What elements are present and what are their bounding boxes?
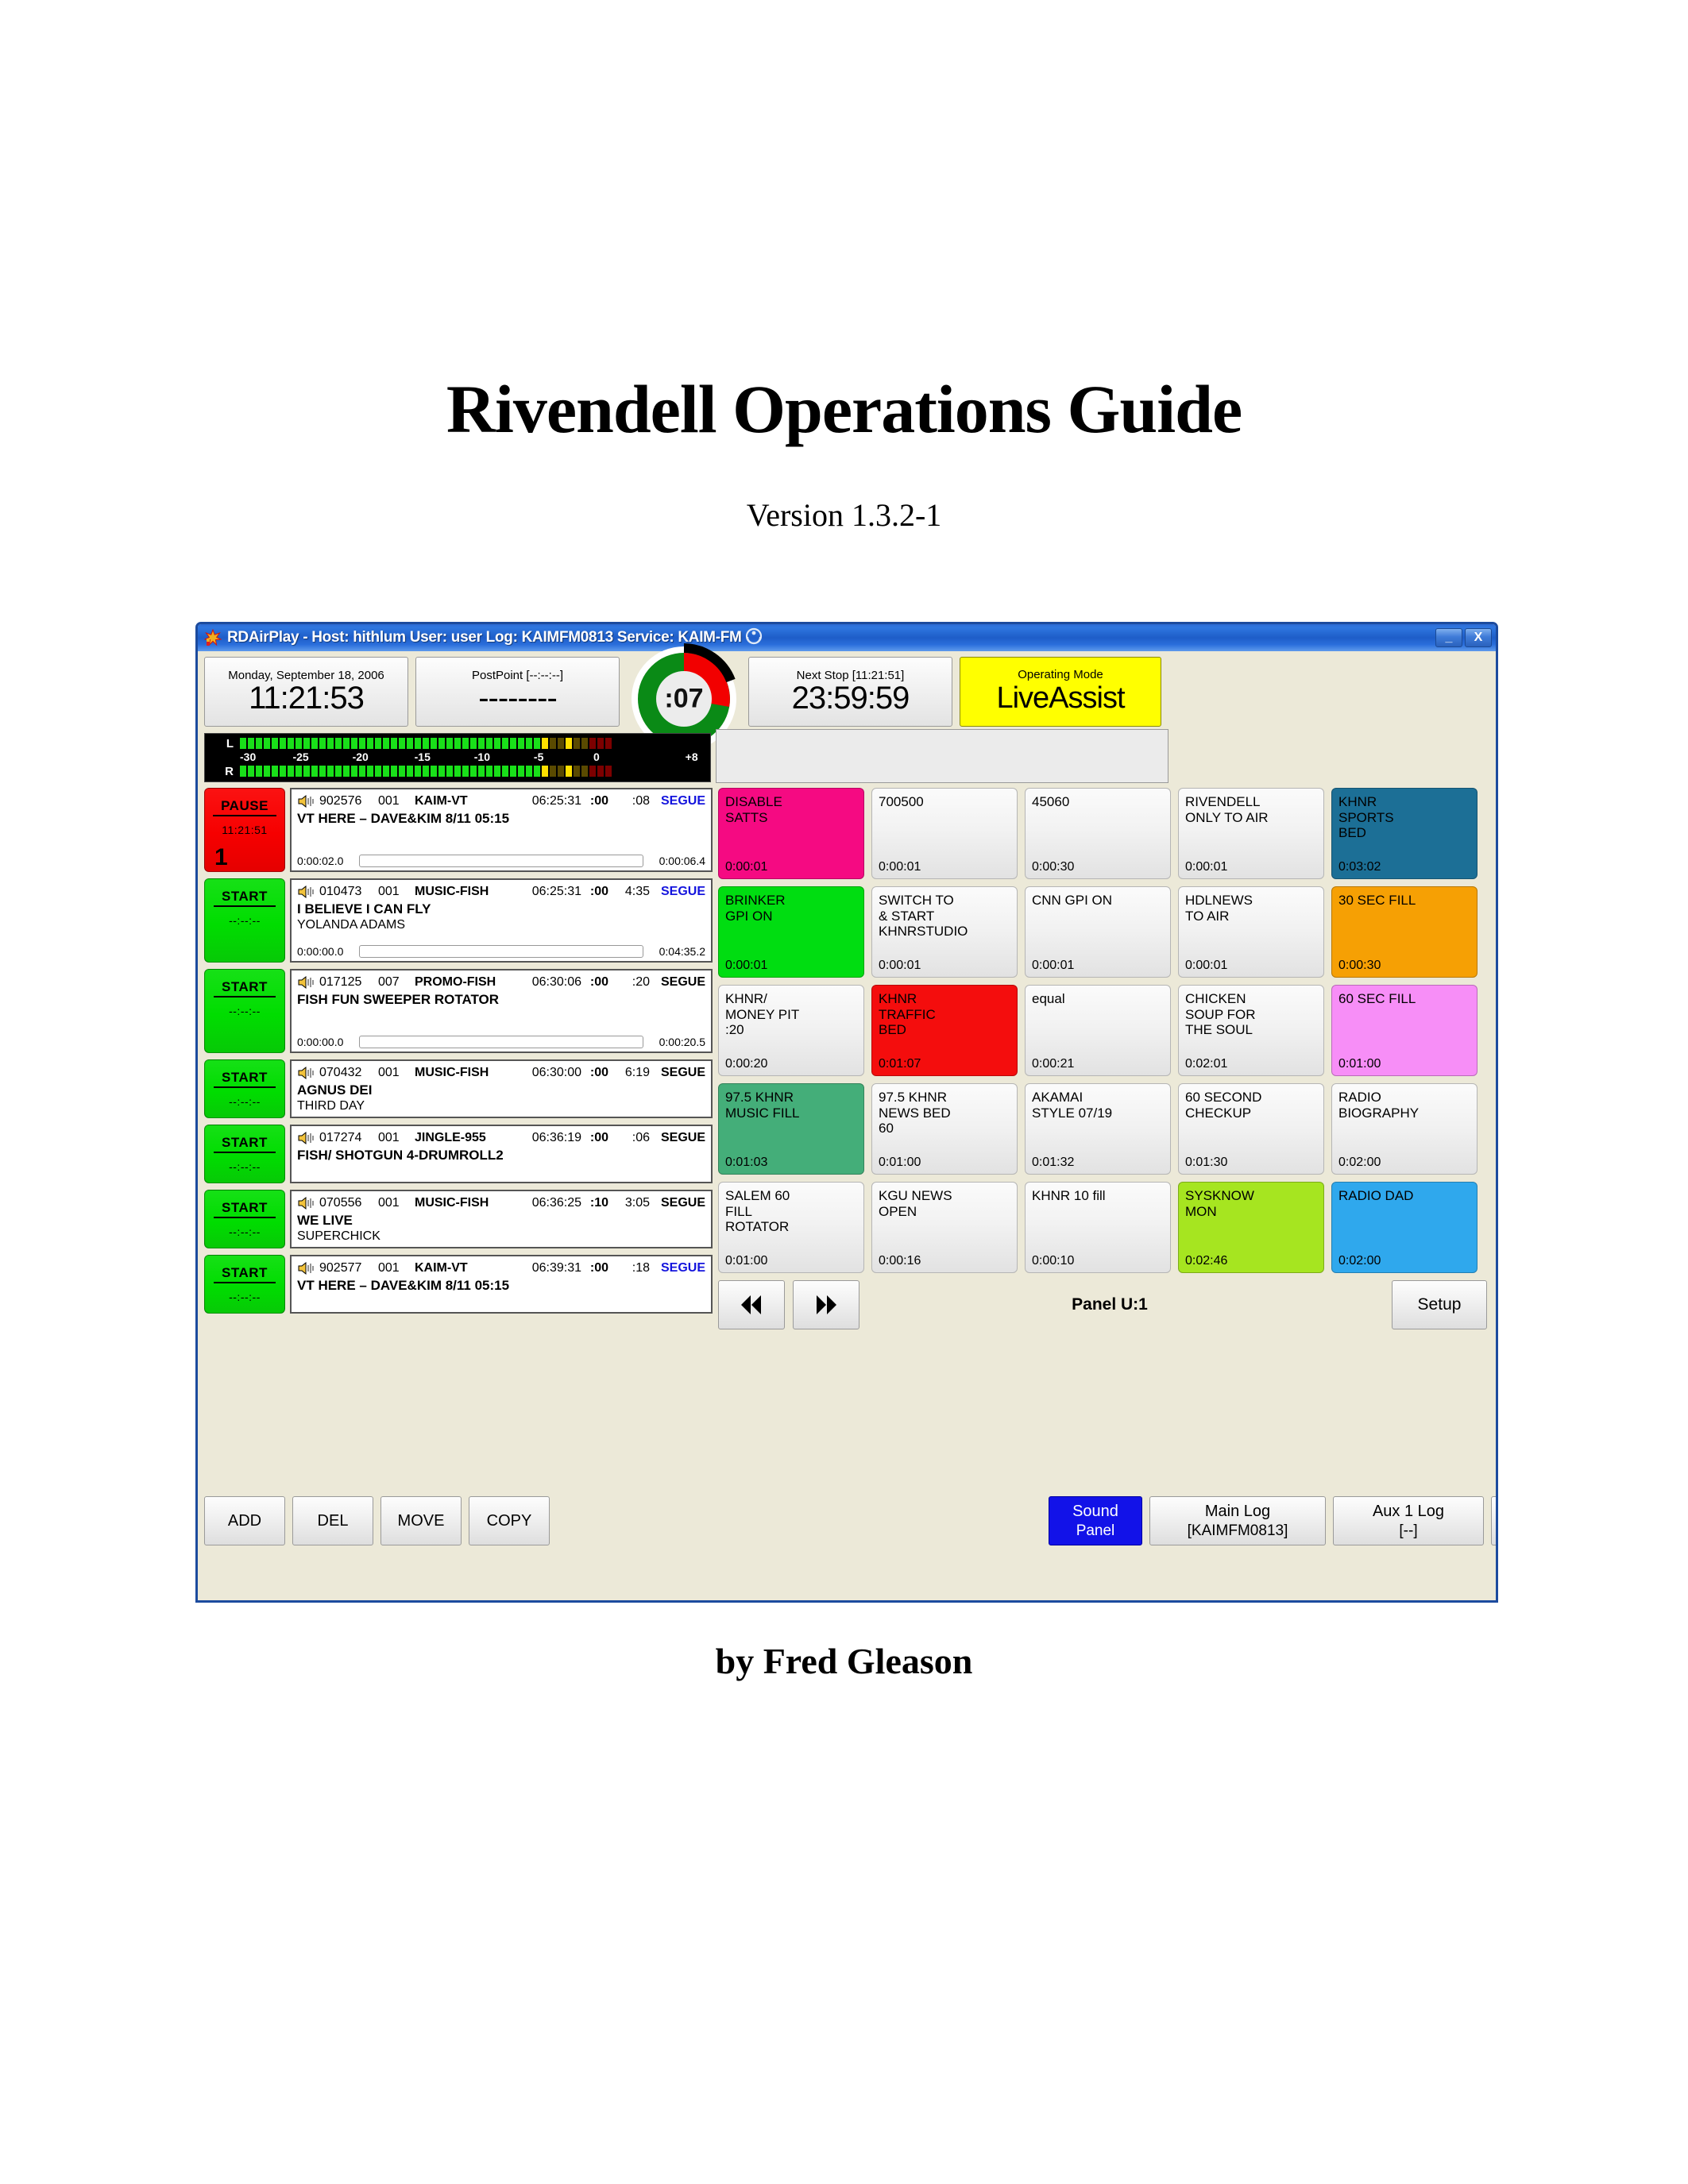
log-air-time: 06:36:25 [518,1196,581,1210]
sound-panel-button[interactable]: SWITCH TO& STARTKHNRSTUDIO0:00:01 [871,886,1018,978]
log-card[interactable]: 902576 001 KAIM-VT 06:25:31 :00 :08 SEGU… [290,788,713,872]
elapsed-time: 0:00:02.0 [297,855,354,867]
sound-panel-button[interactable]: KGU NEWSOPEN0:00:16 [871,1182,1018,1273]
sound-panel-text: THE SOUL [1185,1022,1317,1038]
sound-panel-button[interactable]: 30 SEC FILL0:00:30 [1331,886,1477,978]
sound-panel-button[interactable]: 60 SECONDCHECKUP0:01:30 [1178,1083,1324,1175]
meter-segment [288,738,294,749]
rewind-icon-button[interactable] [718,1280,785,1329]
meter-segment [383,766,389,777]
meter-segment [566,766,572,777]
next-stop-widget: Next Stop [11:21:51] 23:59:59 [748,657,952,727]
meter-segment [510,766,516,777]
meter-segment [319,766,326,777]
log-selector-sub: Panel [1076,1522,1115,1541]
meter-segment [542,738,548,749]
log-air-time: 06:36:19 [518,1131,581,1145]
log-segue: SEGUE [650,1066,705,1080]
sound-panel-text: KHNR/ [725,991,857,1007]
sound-panel-button[interactable]: BRINKERGPI ON0:00:01 [718,886,864,978]
fast-forward-icon-button[interactable] [793,1280,859,1329]
meter-segment [295,738,302,749]
progress-bar [359,855,643,867]
sound-panel-button[interactable]: SALEM 60FILLROTATOR0:01:00 [718,1182,864,1273]
log-air-time: 06:39:31 [518,1261,581,1275]
meter-segment [327,766,334,777]
meter-segment [581,738,588,749]
log-title: WE LIVE [297,1213,705,1229]
meter-segment [486,766,492,777]
meter-scale-tick: -25 [292,751,308,763]
meter-segment [589,766,596,777]
log-meta-line: 017274 001 JINGLE-955 06:36:19 :00 :06 S… [297,1129,705,1147]
meter-right-channel: R [205,765,710,778]
log-row[interactable]: START --:--:-- 017125 007 PROMO-FISH 06:… [204,969,713,1053]
log-start-time: --:--:-- [229,1291,261,1303]
log-row-number: 1 [205,844,228,871]
meter-segment [415,738,421,749]
edit-button-copy[interactable]: COPY [469,1496,550,1545]
edit-button-add[interactable]: ADD [204,1496,285,1545]
sound-panel-button[interactable]: KHNR/MONEY PIT:200:00:20 [718,985,864,1076]
sound-panel-text: MUSIC FILL [725,1106,857,1121]
sound-panel-text: SOUP FOR [1185,1007,1317,1023]
log-meta-line: 017125 007 PROMO-FISH 06:30:06 :00 :20 S… [297,974,705,991]
log-transition: :00 [581,1066,608,1080]
log-length: 6:19 [608,1066,650,1080]
sound-panel-length: 0:01:03 [725,1156,767,1170]
countdown-value: :07 [664,684,703,715]
meter-scale-tick: +8 [686,751,698,763]
log-length: 4:35 [608,885,650,899]
postpoint-value: -------- [478,682,557,714]
log-cart-number: 010473 [319,885,378,899]
log-cart-number: 902577 [319,1261,378,1275]
log-meta-line: 070432 001 MUSIC-FISH 06:30:00 :00 6:19 … [297,1064,705,1082]
sound-panel-text: TO AIR [1185,909,1317,924]
log-start-label: START [214,1135,276,1153]
log-start-button[interactable]: START --:--:-- [204,1125,285,1183]
log-cut-number: 001 [378,1131,415,1145]
sound-panel-text: SPORTS [1338,810,1470,826]
log-title: I BELIEVE I CAN FLY [297,901,705,917]
meter-segment [534,738,540,749]
document-page: Rivendell Operations Guide Version 1.3.2… [0,0,1688,2184]
meter-left-segments [240,738,612,749]
speaker-icon [297,1196,315,1210]
log-start-button[interactable]: START --:--:-- [204,1190,285,1248]
log-card[interactable]: 017274 001 JINGLE-955 06:36:19 :00 :06 S… [290,1125,713,1183]
remaining-time: 0:00:20.5 [648,1036,705,1048]
sound-panel-length: 0:00:01 [879,959,921,973]
log-start-button[interactable]: START --:--:-- [204,1059,285,1118]
log-group: KAIM-VT [415,794,518,808]
meter-scale-tick: -30 [240,751,256,763]
message-textbox[interactable] [716,729,1168,783]
log-cart-number: 017125 [319,975,378,990]
sound-panel-nav: Panel U:1 Setup [718,1280,1487,1329]
sound-panel-text: BRINKER [725,893,857,909]
meter-segment [494,766,500,777]
meter-segment [423,738,429,749]
sound-panel-length: 0:00:30 [1338,959,1381,973]
sound-panel-button[interactable]: KHNRTRAFFICBED0:01:07 [871,985,1018,1076]
log-air-time: 06:25:31 [518,794,581,808]
log-row[interactable]: START --:--:-- 902577 001 KAIM-VT 06:39:… [204,1255,713,1314]
sound-panel-button[interactable]: AKAMAISTYLE 07/190:01:32 [1025,1083,1171,1175]
sound-panel: DISABLESATTS0:00:017005000:00:01450600:0… [718,788,1487,1329]
author-line: by Fred Gleason [0,1640,1688,1682]
minimize-button[interactable]: _ [1435,628,1462,647]
meter-segment [486,738,492,749]
sound-panel-button[interactable]: KHNR 10 fill0:00:10 [1025,1182,1171,1273]
meter-scale-tick: -20 [353,751,369,763]
meter-segment [542,766,548,777]
service-icon [745,627,763,649]
log-group: MUSIC-FISH [415,1066,518,1080]
sound-panel-row: DISABLESATTS0:00:017005000:00:01450600:0… [718,788,1487,879]
speaker-icon [297,1066,315,1080]
meter-segment [311,766,318,777]
log-row[interactable]: START --:--:-- 070432 001 MUSIC-FISH 06:… [204,1059,713,1118]
sound-panel-button[interactable]: DISABLESATTS0:00:01 [718,788,864,879]
wall-clock-widget: Monday, September 18, 2006 11:21:53 [204,657,408,727]
log-selector-main-log[interactable]: Main Log[KAIMFM0813] [1149,1496,1326,1545]
log-start-time: --:--:-- [229,1160,261,1173]
meter-segment [319,738,326,749]
meter-scale: -30-25-20-15-10-50+8 [240,751,699,764]
meter-segment [288,766,294,777]
log-air-time: 06:30:00 [518,1066,581,1080]
sound-panel-text: KGU NEWS [879,1188,1010,1204]
sound-panel-text: BIOGRAPHY [1338,1106,1470,1121]
sound-panel-length: 0:01:30 [1185,1156,1227,1170]
sound-panel-length: 0:02:01 [1185,1057,1227,1071]
log-start-button[interactable]: START --:--:-- [204,969,285,1053]
log-title: FISH FUN SWEEPER ROTATOR [297,992,705,1008]
sound-panel-text: equal [1032,991,1164,1007]
meter-segment [574,766,580,777]
meter-segment [550,766,556,777]
meter-segment [502,738,508,749]
sound-panel-button[interactable]: RIVENDELLONLY TO AIR0:00:01 [1178,788,1324,879]
sound-panel-button[interactable]: 450600:00:30 [1025,788,1171,879]
sound-panel-text: ONLY TO AIR [1185,810,1317,826]
meter-segment [462,766,469,777]
meter-segment [462,738,469,749]
log-selector-aux-2-log[interactable]: Aux 2 Log[--] [1491,1496,1498,1545]
speaker-icon [297,885,315,899]
log-edit-buttons: ADDDELMOVECOPY [204,1496,550,1545]
sound-panel-text: HDLNEWS [1185,893,1317,909]
log-title: VT HERE – DAVE&KIM 8/11 05:15 [297,811,705,827]
log-card[interactable]: 070556 001 MUSIC-FISH 06:36:25 :10 3:05 … [290,1190,713,1248]
sound-panel-button[interactable]: SYSKNOWMON0:02:46 [1178,1182,1324,1273]
log-transition: :00 [581,885,608,899]
window-titlebar[interactable]: RDAirPlay - Host: hithlum User: user Log… [198,624,1496,651]
log-progress: 0:00:00.0 0:04:35.2 [297,945,705,958]
log-air-time: 06:25:31 [518,885,581,899]
log-group: PROMO-FISH [415,975,518,990]
meter-scale-tick: 0 [593,751,600,763]
meter-segment [295,766,302,777]
sound-panel-button[interactable]: RADIOBIOGRAPHY0:02:00 [1331,1083,1477,1175]
sound-panel-length: 0:00:01 [725,860,767,874]
meter-segment [431,738,437,749]
log-start-button[interactable]: START --:--:-- [204,878,285,963]
log-group: KAIM-VT [415,1261,518,1275]
log-transition: :10 [581,1196,608,1210]
log-row[interactable]: START --:--:-- 017274 001 JINGLE-955 06:… [204,1125,713,1183]
meter-segment [431,766,437,777]
meter-segment [280,766,286,777]
meter-segment [375,766,381,777]
sound-panel-row: BRINKERGPI ON0:00:01SWITCH TO& STARTKHNR… [718,886,1487,978]
sound-panel-button[interactable]: KHNRSPORTSBED0:03:02 [1331,788,1477,879]
meter-segment [605,766,612,777]
sound-panel-row: KHNR/MONEY PIT:200:00:20KHNRTRAFFICBED0:… [718,985,1487,1076]
meter-segment [303,766,310,777]
sound-panel-text: RIVENDELL [1185,794,1317,810]
log-cut-number: 001 [378,1261,415,1275]
sound-panel-text: 60 SECOND [1185,1090,1317,1106]
log-start-time: --:--:-- [229,1095,261,1108]
window-body: Monday, September 18, 2006 11:21:53 Post… [198,651,1496,1603]
meter-segment [454,738,461,749]
log-group: JINGLE-955 [415,1131,518,1145]
log-cut-number: 001 [378,1196,415,1210]
meter-segment [518,766,524,777]
meter-segment [526,766,532,777]
log-length: :20 [608,975,650,990]
sound-panel-text: SALEM 60 [725,1188,857,1204]
close-button[interactable]: X [1465,628,1492,647]
log-selector-sub: [KAIMFM0813] [1188,1522,1288,1541]
log-selector-sub: [--] [1399,1522,1417,1541]
sound-panel-text: KHNRSTUDIO [879,924,1010,940]
meter-segment [391,766,397,777]
log-meta-line: 010473 001 MUSIC-FISH 06:25:31 :00 4:35 … [297,883,705,901]
log-selector-sound[interactable]: SoundPanel [1049,1496,1142,1545]
sound-panel-button[interactable]: 60 SEC FILL0:01:00 [1331,985,1477,1076]
meter-segment [343,766,350,777]
log-card[interactable]: 902577 001 KAIM-VT 06:39:31 :00 :18 SEGU… [290,1255,713,1314]
edit-button-move[interactable]: MOVE [380,1496,462,1545]
sound-panel-length: 0:00:10 [1032,1254,1074,1268]
sound-panel-text: SYSKNOW [1185,1188,1317,1204]
log-start-time: --:--:-- [229,1225,261,1238]
meter-segment [311,738,318,749]
meter-segment [272,766,278,777]
sound-panel-button[interactable]: 97.5 KHNRMUSIC FILL0:01:03 [718,1083,864,1175]
log-cut-number: 001 [378,885,415,899]
status-widgets: Monday, September 18, 2006 11:21:53 Post… [204,657,1489,727]
log-start-time: 11:21:51 [222,824,267,836]
log-start-button[interactable]: START --:--:-- [204,1255,285,1314]
log-length: 3:05 [608,1196,650,1210]
meter-segment [383,738,389,749]
meter-segment [248,738,254,749]
sound-panel-text: & START [879,909,1010,924]
next-stop-value: 23:59:59 [792,682,910,714]
meter-segment [367,766,373,777]
postpoint-widget: PostPoint [--:--:--] -------- [415,657,620,727]
sound-panel-text: 700500 [879,794,1010,810]
elapsed-time: 0:00:00.0 [297,1036,354,1048]
log-start-label: PAUSE [213,798,276,816]
meter-segment [407,766,413,777]
log-meta-line: 070556 001 MUSIC-FISH 06:36:25 :10 3:05 … [297,1194,705,1212]
log-cart-number: 902576 [319,794,378,808]
meter-segment [343,738,350,749]
rewind-icon [734,1293,769,1317]
app-icon [204,629,222,646]
sound-panel-text: BED [879,1022,1010,1038]
operating-mode-button[interactable]: Operating Mode LiveAssist [960,657,1161,727]
log-cut-number: 001 [378,794,415,808]
operating-mode-label: Operating Mode [1018,668,1103,681]
sound-panel-length: 0:00:01 [1185,860,1227,874]
sound-panel-button[interactable]: equal0:00:21 [1025,985,1171,1076]
sound-panel-text: TRAFFIC [879,1007,1010,1023]
sound-panel-length: 0:00:01 [879,860,921,874]
sound-panel-length: 0:00:30 [1032,860,1074,874]
speaker-icon [297,1261,315,1275]
log-length: :18 [608,1261,650,1275]
log-row[interactable]: START --:--:-- 010473 001 MUSIC-FISH 06:… [204,878,713,963]
sound-panel-button[interactable]: CNN GPI ON0:00:01 [1025,886,1171,978]
sound-panel-text: RADIO DAD [1338,1188,1470,1204]
meter-scale-tick: -5 [534,751,543,763]
progress-bar [359,945,643,958]
log-card[interactable]: 070432 001 MUSIC-FISH 06:30:00 :00 6:19 … [290,1059,713,1118]
speaker-icon [297,794,315,808]
sound-panel-text: DISABLE [725,794,857,810]
version-subtitle: Version 1.3.2-1 [0,496,1688,534]
meter-segment [446,738,453,749]
meter-left-label: L [205,737,240,751]
sound-panel-text: RADIO [1338,1090,1470,1106]
meter-segment [327,738,334,749]
meter-segment [264,738,270,749]
meter-segment [351,766,357,777]
log-segue: SEGUE [650,1196,705,1210]
log-transition: :00 [581,794,608,808]
log-row[interactable]: PAUSE 11:21:51 1 902576 001 KAIM-VT 06:2… [204,788,713,872]
meter-scale-tick: -10 [474,751,490,763]
log-group: MUSIC-FISH [415,885,518,899]
meter-segment [391,738,397,749]
log-progress: 0:00:00.0 0:00:20.5 [297,1036,705,1048]
sound-panel-button[interactable]: RADIO DAD0:02:00 [1331,1182,1477,1273]
meter-segment [240,766,246,777]
meter-segment [574,738,580,749]
log-cart-number: 017274 [319,1131,378,1145]
sound-panel-length: 0:03:02 [1338,860,1381,874]
log-start-label: START [214,889,276,907]
log-segue: SEGUE [650,975,705,990]
sound-panel-text: KHNR 10 fill [1032,1188,1164,1204]
sound-panel-text: BED [1338,825,1470,841]
log-artist: YOLANDA ADAMS [297,918,705,932]
meter-segment [423,766,429,777]
edit-button-del[interactable]: DEL [292,1496,373,1545]
rdairplay-window: RDAirPlay - Host: hithlum User: user Log… [195,622,1498,1603]
sound-panel-row: SALEM 60FILLROTATOR0:01:00KGU NEWSOPEN0:… [718,1182,1487,1273]
log-selector-label: Aux 1 Log [1373,1502,1444,1522]
log-length: :08 [608,794,650,808]
sound-panel-text: STYLE 07/19 [1032,1106,1164,1121]
meter-segment [502,766,508,777]
sound-panel-text: 45060 [1032,794,1164,810]
meter-segment [367,738,373,749]
meter-segment [375,738,381,749]
meter-segment [256,766,262,777]
sound-panel-text: CNN GPI ON [1032,893,1164,909]
meter-segment [470,766,477,777]
fast-forward-icon [809,1293,844,1317]
meter-segment [359,766,365,777]
log-artist: SUPERCHICK [297,1229,705,1244]
log-title: FISH/ SHOTGUN 4-DRUMROLL2 [297,1148,705,1163]
setup-button[interactable]: Setup [1392,1280,1487,1329]
log-transition: :00 [581,975,608,990]
meter-segment [438,766,445,777]
log-air-time: 06:30:06 [518,975,581,990]
meter-segment [351,738,357,749]
sound-panel-text: FILL [725,1204,857,1220]
sound-panel-length: 0:00:01 [1185,959,1227,973]
sound-panel-text: NEWS BED [879,1106,1010,1121]
log-start-button[interactable]: PAUSE 11:21:51 1 [204,788,285,872]
sound-panel-button[interactable]: 97.5 KHNRNEWS BED600:01:00 [871,1083,1018,1175]
meter-segment [256,738,262,749]
sound-panel-length: 0:01:32 [1032,1156,1074,1170]
speaker-icon [297,975,315,990]
sound-panel-text: KHNR [879,991,1010,1007]
remaining-time: 0:04:35.2 [648,945,705,958]
sound-panel-button[interactable]: CHICKENSOUP FORTHE SOUL0:02:01 [1178,985,1324,1076]
sound-panel-length: 0:00:01 [725,959,767,973]
sound-panel-button[interactable]: HDLNEWSTO AIR0:00:01 [1178,886,1324,978]
log-length: :06 [608,1131,650,1145]
page-title: Rivendell Operations Guide [0,369,1688,449]
sound-panel-row: 97.5 KHNRMUSIC FILL0:01:0397.5 KHNRNEWS … [718,1083,1487,1175]
audio-meter: L -30-25-20-15-10-50+8 R [204,733,711,782]
log-cart-number: 070556 [319,1196,378,1210]
log-row[interactable]: START --:--:-- 070556 001 MUSIC-FISH 06:… [204,1190,713,1248]
log-cart-number: 070432 [319,1066,378,1080]
log-selector-aux-1-log[interactable]: Aux 1 Log[--] [1333,1496,1484,1545]
elapsed-time: 0:00:00.0 [297,945,354,958]
meter-segment [248,766,254,777]
sound-panel-length: 0:01:07 [879,1057,921,1071]
meter-segment [589,738,596,749]
log-card[interactable]: 010473 001 MUSIC-FISH 06:25:31 :00 4:35 … [290,878,713,963]
meter-segment [399,766,405,777]
sound-panel-text: CHICKEN [1185,991,1317,1007]
log-segue: SEGUE [650,885,705,899]
meter-segment [494,738,500,749]
log-card[interactable]: 017125 007 PROMO-FISH 06:30:06 :00 :20 S… [290,969,713,1053]
meter-segment [510,738,516,749]
log-start-label: START [214,979,276,997]
sound-panel-button[interactable]: 7005000:00:01 [871,788,1018,879]
log-meta-line: 902576 001 KAIM-VT 06:25:31 :00 :08 SEGU… [297,793,705,810]
sound-panel-text: KHNR [1338,794,1470,810]
sound-panel-length: 0:02:00 [1338,1254,1381,1268]
log-list: PAUSE 11:21:51 1 902576 001 KAIM-VT 06:2… [204,788,713,1320]
